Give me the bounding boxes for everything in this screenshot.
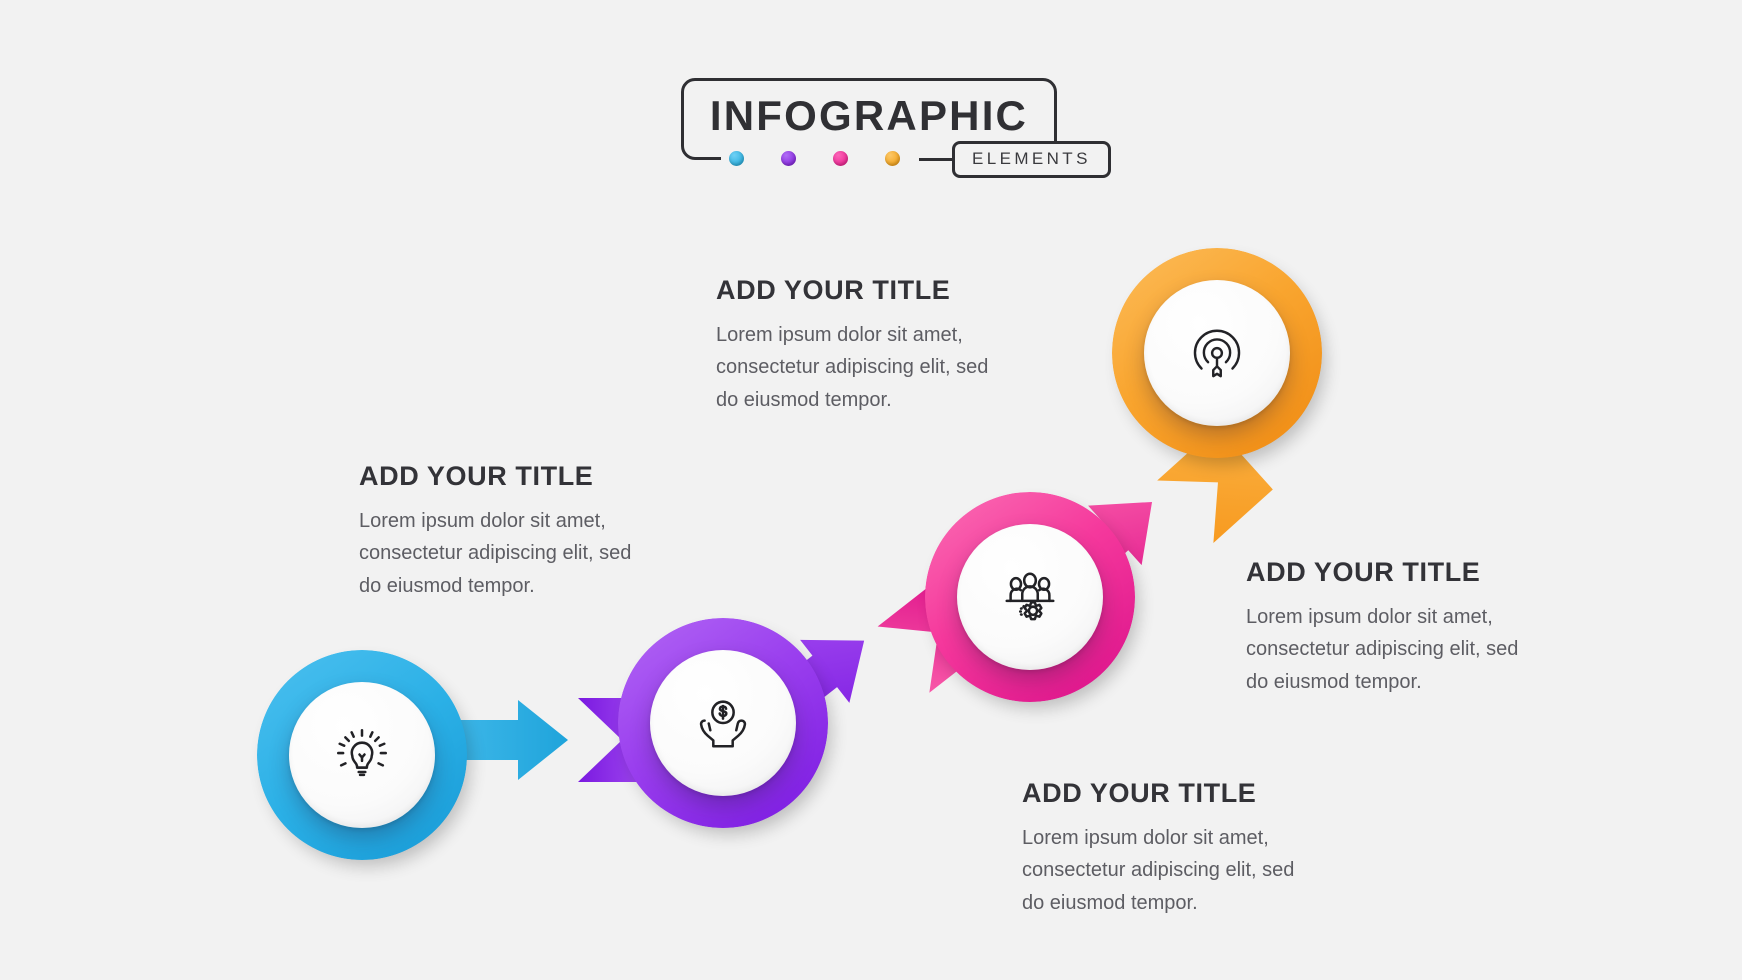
page-title: INFOGRAPHIC — [681, 92, 1057, 140]
text-block-step-4: ADD YOUR TITLE Lorem ipsum dolor sit ame… — [716, 275, 1046, 416]
text-block-step-1: ADD YOUR TITLE Lorem ipsum dolor sit ame… — [359, 461, 699, 602]
step-1-body-line-3: do eiusmod tempor. — [359, 570, 699, 602]
step-node-3[interactable] — [925, 492, 1135, 702]
elements-badge: ELEMENTS — [952, 141, 1111, 178]
step-2-body-line-1: Lorem ipsum dolor sit amet, — [1022, 822, 1362, 854]
dot-orange-icon — [885, 151, 900, 166]
step-3-title: ADD YOUR TITLE — [1246, 557, 1586, 588]
node-3-icon-disc — [957, 524, 1103, 670]
node-2-icon-disc — [650, 650, 796, 796]
step-2-body-line-2: consectetur adipiscing elit, sed — [1022, 854, 1362, 886]
step-4-body: Lorem ipsum dolor sit amet, consectetur … — [716, 319, 1046, 416]
step-4-body-line-3: do eiusmod tempor. — [716, 384, 1046, 416]
step-3-body-line-3: do eiusmod tempor. — [1246, 666, 1586, 698]
dot-pink-icon — [833, 151, 848, 166]
step-1-body-line-2: consectetur adipiscing elit, sed — [359, 537, 699, 569]
step-4-title: ADD YOUR TITLE — [716, 275, 1046, 306]
step-4-body-line-1: Lorem ipsum dolor sit amet, — [716, 319, 1046, 351]
header: INFOGRAPHIC ELEMENTS — [681, 78, 1061, 174]
money-in-hands-icon — [692, 692, 754, 754]
text-block-step-3: ADD YOUR TITLE Lorem ipsum dolor sit ame… — [1246, 557, 1586, 698]
step-4-body-line-2: consectetur adipiscing elit, sed — [716, 351, 1046, 383]
step-1-body-line-1: Lorem ipsum dolor sit amet, — [359, 505, 699, 537]
dot-purple-icon — [781, 151, 796, 166]
step-2-body: Lorem ipsum dolor sit amet, consectetur … — [1022, 822, 1362, 919]
lightbulb-icon — [331, 724, 393, 786]
step-3-body: Lorem ipsum dolor sit amet, consectetur … — [1246, 601, 1586, 698]
step-1-body: Lorem ipsum dolor sit amet, consectetur … — [359, 505, 699, 602]
infographic-canvas: INFOGRAPHIC ELEMENTS — [0, 0, 1742, 980]
step-2-body-line-3: do eiusmod tempor. — [1022, 887, 1362, 919]
step-node-1[interactable] — [257, 650, 467, 860]
step-node-4[interactable] — [1112, 248, 1322, 458]
dot-blue-icon — [729, 151, 744, 166]
text-block-step-2: ADD YOUR TITLE Lorem ipsum dolor sit ame… — [1022, 778, 1362, 919]
step-3-body-line-2: consectetur adipiscing elit, sed — [1246, 633, 1586, 665]
step-1-title: ADD YOUR TITLE — [359, 461, 699, 492]
target-rocket-icon — [1187, 323, 1247, 383]
step-2-title: ADD YOUR TITLE — [1022, 778, 1362, 809]
node-1-icon-disc — [289, 682, 435, 828]
node-4-icon-disc — [1144, 280, 1290, 426]
team-gear-icon — [999, 566, 1061, 628]
step-3-body-line-1: Lorem ipsum dolor sit amet, — [1246, 601, 1586, 633]
step-node-2[interactable] — [618, 618, 828, 828]
header-connector-line — [919, 158, 955, 161]
header-dot-row — [729, 151, 900, 166]
